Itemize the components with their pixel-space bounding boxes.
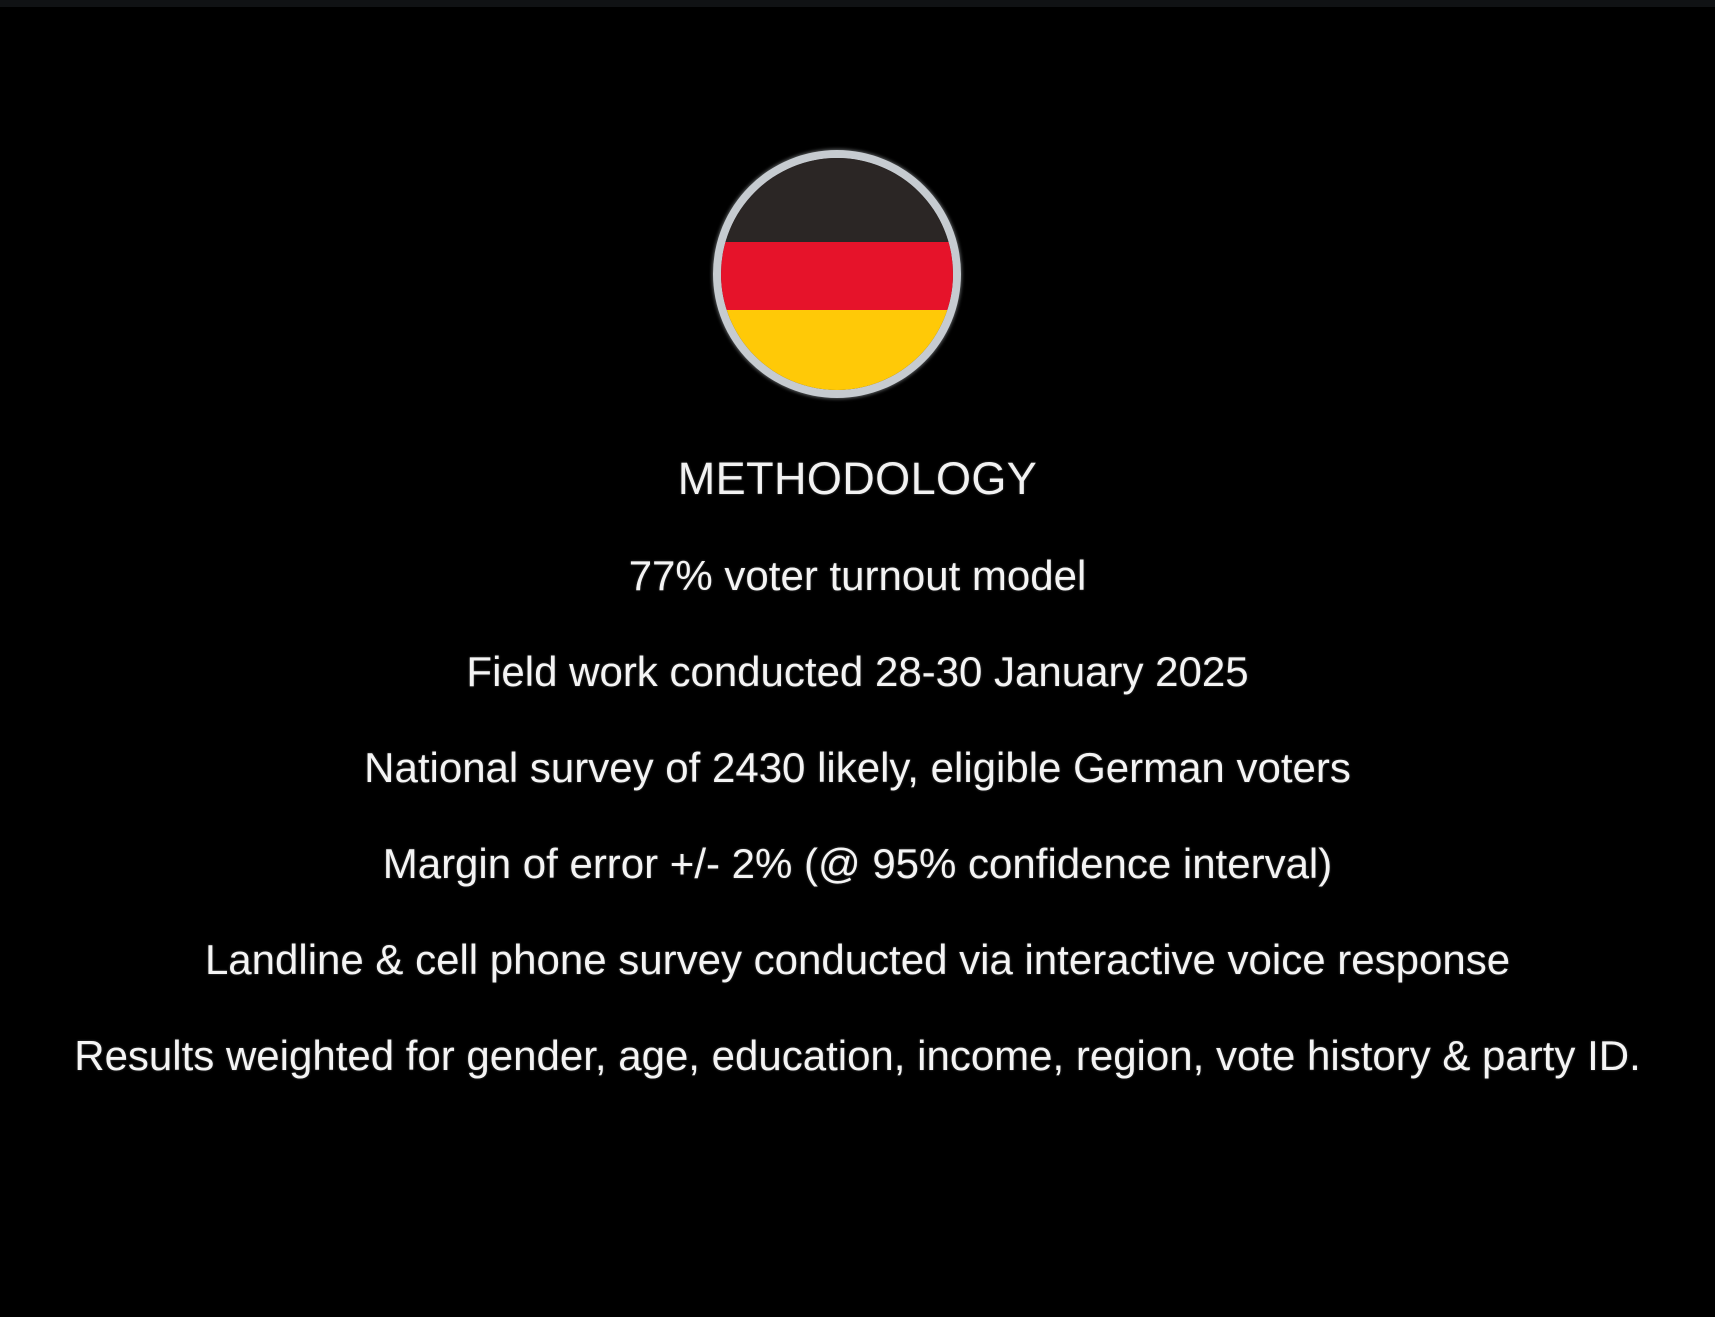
methodology-line-margin-of-error: Margin of error +/- 2% (@ 95% confidence… bbox=[0, 838, 1715, 890]
flag-disc bbox=[721, 158, 953, 390]
top-edge-strip bbox=[0, 0, 1715, 7]
methodology-slide: METHODOLOGY 77% voter turnout model Fiel… bbox=[0, 0, 1715, 1317]
methodology-text-block: METHODOLOGY 77% voter turnout model Fiel… bbox=[0, 452, 1715, 1082]
methodology-line-weighting: Results weighted for gender, age, educat… bbox=[0, 1030, 1715, 1082]
flag-band-gold bbox=[721, 310, 953, 390]
methodology-line-field-work-dates: Field work conducted 28-30 January 2025 bbox=[0, 646, 1715, 698]
flag-band-red bbox=[721, 242, 953, 310]
methodology-line-sample-size: National survey of 2430 likely, eligible… bbox=[0, 742, 1715, 794]
german-flag-circle-icon bbox=[713, 150, 961, 398]
page-title: METHODOLOGY bbox=[0, 452, 1715, 506]
methodology-line-turnout-model: 77% voter turnout model bbox=[0, 550, 1715, 602]
methodology-line-survey-mode: Landline & cell phone survey conducted v… bbox=[0, 934, 1715, 986]
flag-band-black bbox=[721, 158, 953, 242]
